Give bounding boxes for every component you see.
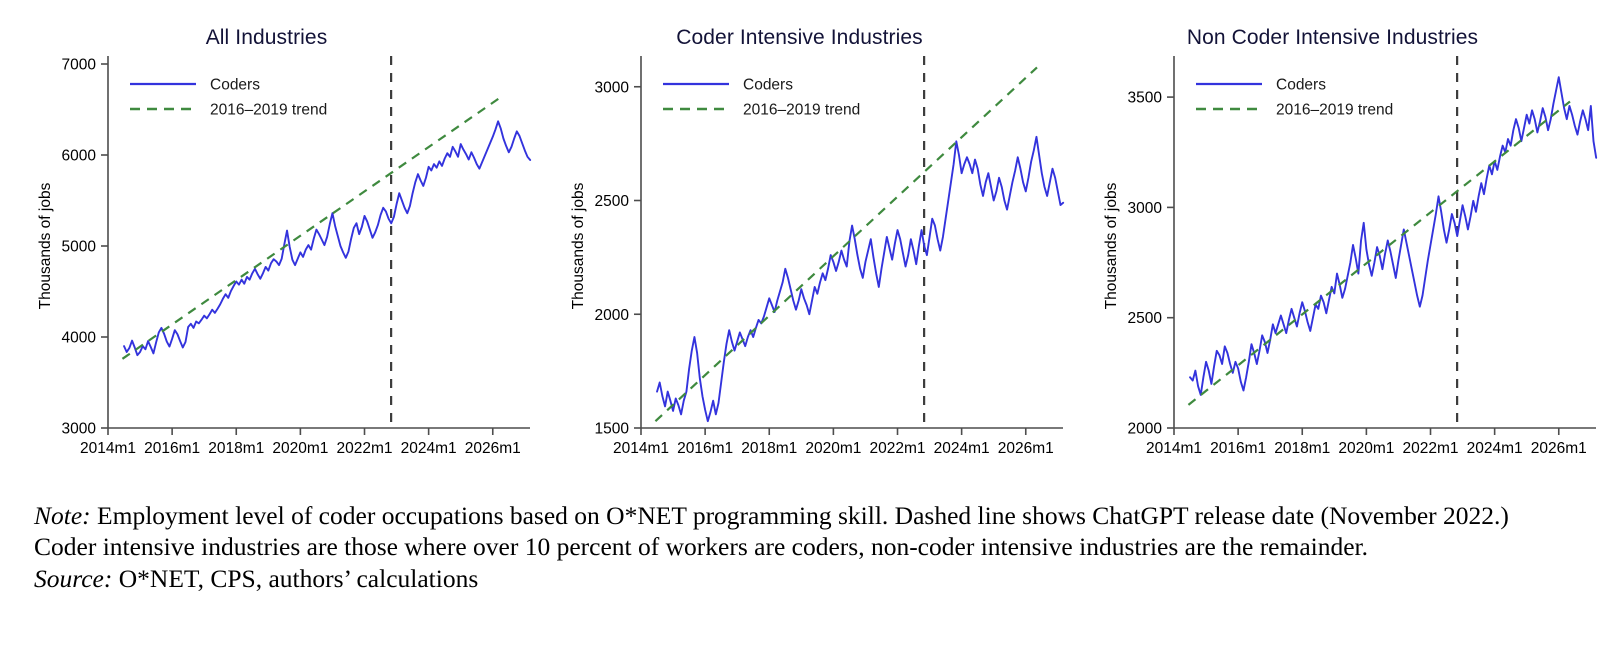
- y-tick-label: 6000: [62, 148, 97, 165]
- x-tick-label: 2018m1: [208, 440, 264, 457]
- x-tick-label: 2020m1: [805, 440, 861, 457]
- x-tick-label: 2026m1: [465, 440, 521, 457]
- y-tick-label: 3000: [595, 79, 630, 96]
- y-tick-label: 2500: [1128, 310, 1163, 327]
- panel-title: Coder Intensive Industries: [533, 26, 1066, 50]
- source-label: Source:: [34, 564, 112, 593]
- note-label: Note:: [34, 501, 91, 530]
- x-tick-label: 2020m1: [1338, 440, 1394, 457]
- panel-all-industries: All Industries 300040005000600070002014m…: [0, 0, 533, 490]
- trend-line: [655, 67, 1037, 421]
- x-tick-label: 2016m1: [1210, 440, 1266, 457]
- panel-coder-intensive: Coder Intensive Industries 1500200025003…: [533, 0, 1066, 490]
- y-axis-title: Thousands of jobs: [37, 182, 54, 309]
- panel-title: Non Coder Intensive Industries: [1066, 26, 1599, 50]
- y-tick-label: 2500: [595, 193, 630, 210]
- x-tick-label: 2016m1: [144, 440, 200, 457]
- x-tick-label: 2014m1: [613, 440, 669, 457]
- figure-notes: Note: Employment level of coder occupati…: [34, 500, 1574, 594]
- y-tick-label: 7000: [62, 57, 97, 74]
- y-tick-label: 2000: [595, 307, 630, 324]
- x-tick-label: 2016m1: [677, 440, 733, 457]
- x-tick-label: 2022m1: [1403, 440, 1459, 457]
- note-paragraph: Note: Employment level of coder occupati…: [34, 500, 1574, 562]
- x-tick-label: 2026m1: [1531, 440, 1587, 457]
- figure-root: All Industries 300040005000600070002014m…: [0, 0, 1600, 672]
- note-text: Employment level of coder occupations ba…: [34, 501, 1509, 561]
- y-tick-label: 3500: [1128, 90, 1163, 107]
- source-paragraph: Source: O*NET, CPS, authors’ calculation…: [34, 563, 1574, 594]
- y-tick-label: 1500: [595, 421, 630, 438]
- x-tick-label: 2026m1: [998, 440, 1054, 457]
- legend-label-trend: 2016–2019 trend: [1276, 102, 1393, 119]
- y-tick-label: 4000: [62, 330, 97, 347]
- x-tick-label: 2014m1: [80, 440, 136, 457]
- x-tick-label: 2018m1: [1274, 440, 1330, 457]
- x-tick-label: 2022m1: [337, 440, 393, 457]
- panel-title: All Industries: [0, 26, 533, 50]
- legend-label-coders: Coders: [743, 77, 793, 94]
- series-line-coders: [124, 121, 530, 355]
- y-tick-label: 3000: [1128, 200, 1163, 217]
- legend-label-trend: 2016–2019 trend: [210, 102, 327, 119]
- y-axis-title: Thousands of jobs: [1103, 182, 1120, 309]
- panel-row: All Industries 300040005000600070002014m…: [0, 0, 1600, 490]
- y-tick-label: 5000: [62, 239, 97, 256]
- plot-non-coder-intensive: 20002500300035002014m12016m12018m12020m1…: [1066, 0, 1599, 490]
- trend-line: [122, 95, 504, 359]
- y-axis-title: Thousands of jobs: [570, 182, 587, 309]
- series-line-coders: [1190, 77, 1596, 395]
- y-tick-label: 3000: [62, 421, 97, 438]
- y-tick-label: 2000: [1128, 421, 1163, 438]
- legend-label-trend: 2016–2019 trend: [743, 102, 860, 119]
- x-tick-label: 2024m1: [401, 440, 457, 457]
- x-tick-label: 2018m1: [741, 440, 797, 457]
- plot-coder-intensive: 15002000250030002014m12016m12018m12020m1…: [533, 0, 1066, 490]
- x-tick-label: 2014m1: [1146, 440, 1202, 457]
- legend-label-coders: Coders: [1276, 77, 1326, 94]
- plot-all-industries: 300040005000600070002014m12016m12018m120…: [0, 0, 533, 490]
- panel-non-coder-intensive: Non Coder Intensive Industries 200025003…: [1066, 0, 1599, 490]
- x-tick-label: 2024m1: [934, 440, 990, 457]
- x-tick-label: 2022m1: [870, 440, 926, 457]
- legend-label-coders: Coders: [210, 77, 260, 94]
- x-tick-label: 2020m1: [272, 440, 328, 457]
- x-tick-label: 2024m1: [1467, 440, 1523, 457]
- source-text: O*NET, CPS, authors’ calculations: [112, 564, 478, 593]
- series-line-coders: [657, 137, 1063, 421]
- trend-line: [1188, 102, 1570, 405]
